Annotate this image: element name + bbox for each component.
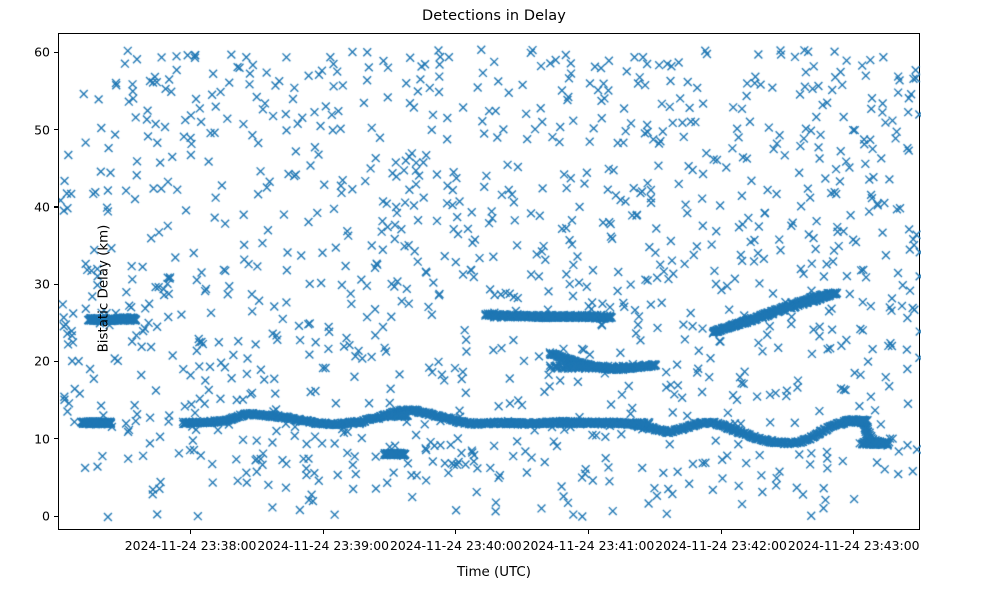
x-tick-mark [455,530,456,534]
y-tick-mark [54,284,58,285]
x-tick-mark [588,530,589,534]
y-tick-label: 20 [10,354,50,369]
y-tick-label: 10 [10,431,50,446]
y-tick-mark [54,52,58,53]
y-tick-mark [54,361,58,362]
x-tick-mark [853,530,854,534]
y-tick-mark [54,516,58,517]
scatter-plot-canvas [59,34,921,531]
page-title: Detections in Delay [0,8,988,24]
y-tick-label: 60 [10,45,50,60]
plot-axes [58,33,920,530]
x-axis-label: Time (UTC) [0,565,988,580]
y-tick-mark [54,129,58,130]
y-tick-mark [54,438,58,439]
y-tick-label: 30 [10,277,50,292]
x-tick-mark [190,530,191,534]
y-tick-label: 50 [10,122,50,137]
y-tick-label: 40 [10,199,50,214]
x-tick-mark [721,530,722,534]
x-tick-mark [323,530,324,534]
y-axis-label: Bistatic Delay (km) [97,179,112,399]
figure: Detections in Delay 0102030405060 2024-1… [0,0,988,590]
y-tick-label: 0 [10,509,50,524]
y-tick-mark [54,206,58,207]
x-tick-label: 2024-11-24 23:43:00 [759,538,949,553]
